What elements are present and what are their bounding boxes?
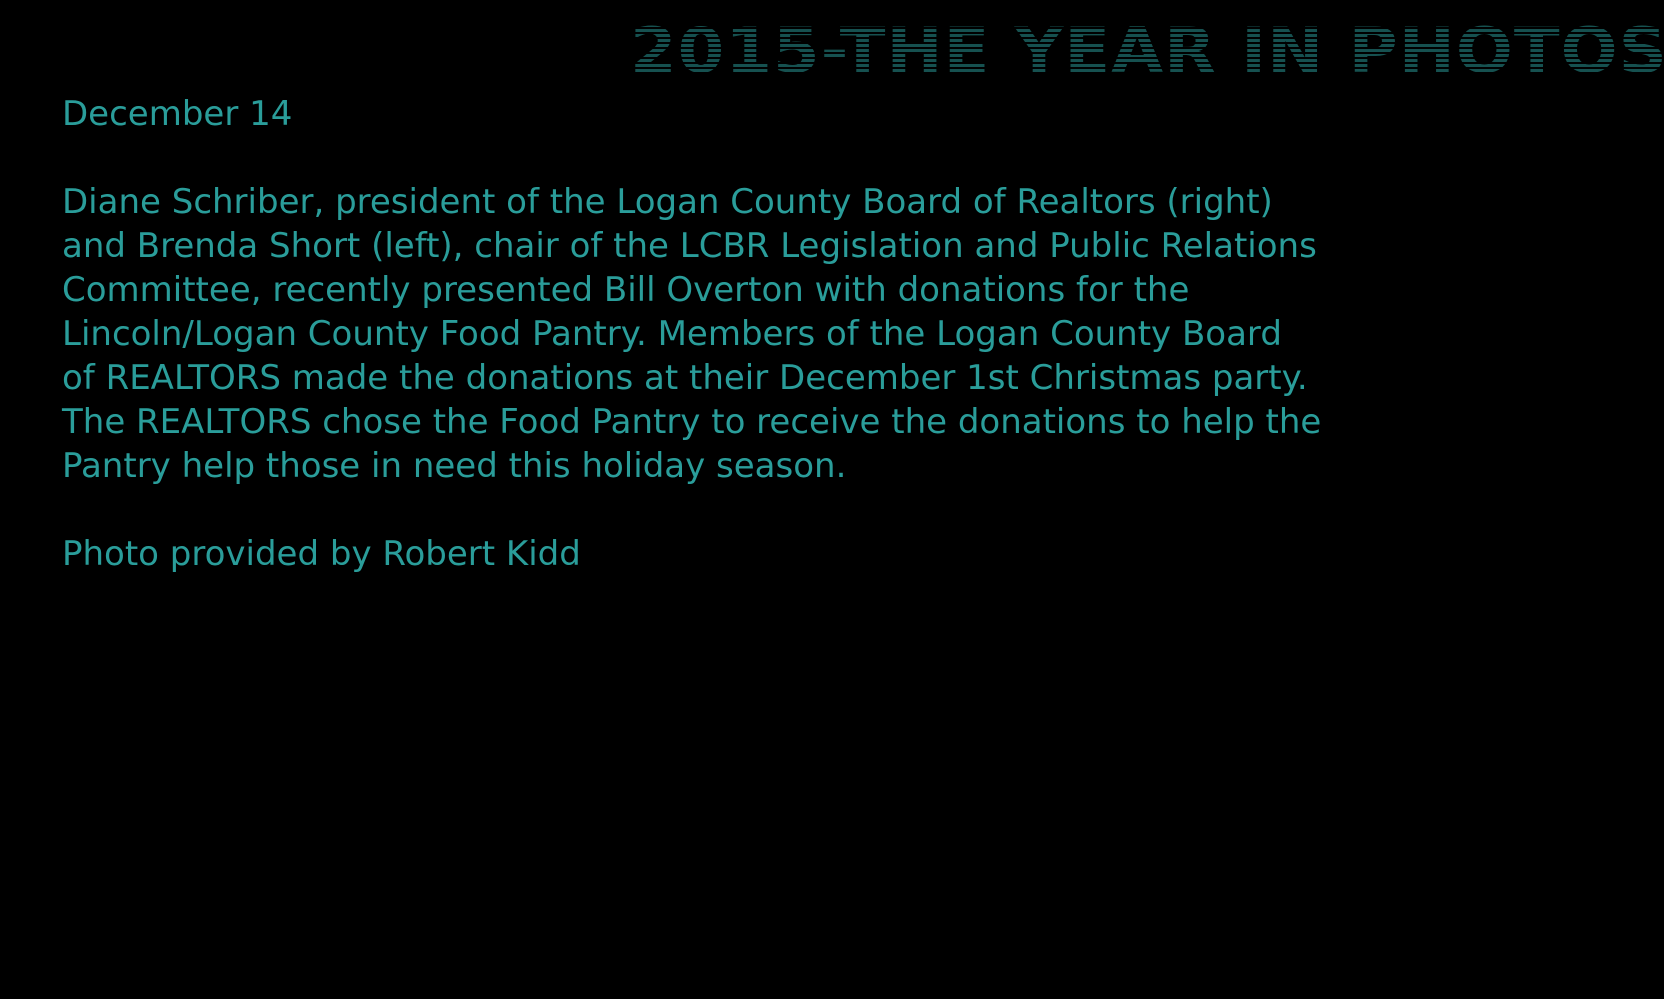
caption-body-line: Committee, recently presented Bill Overt… (62, 268, 1442, 312)
banner-title-glyphs: 2015-THE YEAR IN PHOTOS (630, 14, 1664, 86)
caption-block: December 14 Diane Schriber, president of… (62, 92, 1442, 576)
caption-body-line: and Brenda Short (left), chair of the LC… (62, 224, 1442, 268)
spacer-after-date (62, 136, 1442, 180)
spacer-before-credit (62, 488, 1442, 532)
caption-body-line: Diane Schriber, president of the Logan C… (62, 180, 1442, 224)
photo-credit: Photo provided by Robert Kidd (62, 532, 1442, 576)
caption-body-line: The REALTORS chose the Food Pantry to re… (62, 400, 1442, 444)
caption-body-line: Pantry help those in need this holiday s… (62, 444, 1442, 488)
banner-title: 2015-THE YEAR IN PHOTOS (630, 14, 1664, 86)
banner-title-text: 2015-THE YEAR IN PHOTOS (630, 14, 1664, 86)
banner-title-svg: 2015-THE YEAR IN PHOTOS (630, 14, 1664, 86)
caption-date: December 14 (62, 92, 1442, 136)
caption-body-line: of REALTORS made the donations at their … (62, 356, 1442, 400)
caption-body-line: Lincoln/Logan County Food Pantry. Member… (62, 312, 1442, 356)
caption-body: Diane Schriber, president of the Logan C… (62, 180, 1442, 488)
photo-caption-slide: 2015-THE YEAR IN PHOTOS December 14 Dian… (0, 0, 1664, 999)
